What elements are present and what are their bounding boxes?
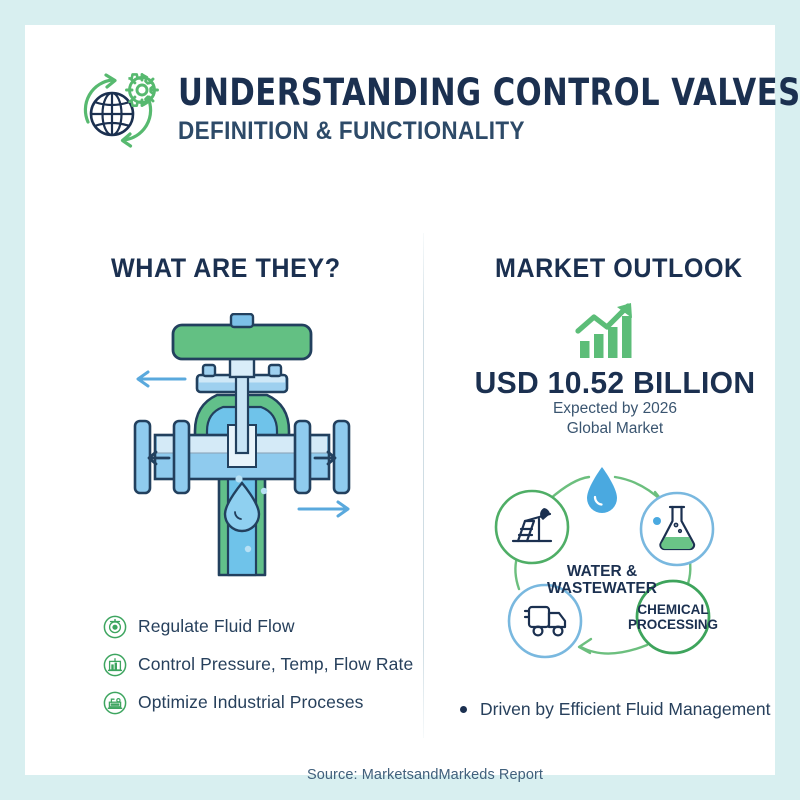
- right-section-heading: MARKET OUTLOOK: [495, 253, 743, 284]
- content-panel: UNDERSTANDING CONTROL VALVES DEFINITION …: [25, 25, 775, 775]
- section-divider: [423, 233, 424, 738]
- valve-gauge-icon: [103, 615, 127, 639]
- arrow-left-top: [138, 372, 185, 386]
- market-subtext-line1: Expected by 2026: [445, 399, 785, 419]
- bubble: [235, 475, 242, 482]
- industry-cycle-diagram: CHEMICAL PROCESSING WATE: [477, 457, 727, 665]
- cycle-center-label-line2: WASTEWATER: [547, 580, 657, 597]
- page-subtitle: DEFINITION & FUNCTIONALITY: [178, 117, 787, 146]
- market-driver-label: Driven by Efficient Fluid Management: [480, 699, 771, 720]
- market-driver-bullet: Driven by Efficient Fluid Management: [460, 699, 771, 720]
- feature-label: Regulate Fluid Flow: [138, 616, 295, 637]
- growth-bar-chart-icon: [574, 301, 640, 363]
- valve-stem-lower: [236, 377, 248, 453]
- page-title: UNDERSTANDING CONTROL VALVES: [178, 74, 800, 113]
- left-section-heading: WHAT ARE THEY?: [111, 253, 341, 284]
- bubble: [261, 488, 267, 494]
- chemical-processing-label-line2: PROCESSING: [628, 617, 718, 632]
- pressure-chart-icon: [103, 653, 127, 677]
- oil-pumpjack-node: [496, 491, 568, 563]
- feature-item: Optimize Industrial Proceses: [103, 684, 413, 721]
- arrow-top-to-right: [615, 477, 662, 501]
- bubble: [245, 546, 251, 552]
- control-valve-illustration: [117, 313, 367, 578]
- chemical-processing-label-line1: CHEMICAL: [637, 602, 708, 617]
- arrow-right-bottom: [299, 502, 348, 516]
- header-text-block: UNDERSTANDING CONTROL VALVES DEFINITION …: [178, 74, 800, 146]
- source-footer: Source: MarketsandMarkeds Report: [50, 767, 800, 783]
- outlet-flange: [295, 421, 310, 493]
- feature-label: Control Pressure, Temp, Flow Rate: [138, 654, 413, 675]
- header: UNDERSTANDING CONTROL VALVES DEFINITION …: [70, 55, 740, 165]
- bonnet-bolt-left: [203, 365, 215, 376]
- outlet-end-flange: [334, 421, 349, 493]
- arrow-bottom-left-to-top-left: [515, 557, 519, 589]
- chemical-flask-node: [641, 493, 713, 565]
- feature-item: Control Pressure, Temp, Flow Rate: [103, 646, 413, 683]
- factory-process-icon: [103, 691, 127, 715]
- inlet-end-flange: [135, 421, 150, 493]
- market-value: USD 10.52 BILLION: [450, 365, 780, 401]
- market-subtext-line2: Global Market: [445, 419, 785, 439]
- feature-list: Regulate Fluid Flow Control Pressure, Te…: [103, 608, 413, 722]
- inlet-flange: [174, 421, 189, 493]
- infographic-root: UNDERSTANDING CONTROL VALVES DEFINITION …: [0, 0, 800, 800]
- globe-gear-refresh-icon: [70, 62, 166, 158]
- market-subtext: Expected by 2026 Global Market: [445, 399, 785, 439]
- feature-item: Regulate Fluid Flow: [103, 608, 413, 645]
- handwheel-nut: [231, 314, 253, 327]
- cycle-center-label-line1: WATER &: [567, 563, 637, 580]
- water-drop-icon: [587, 467, 617, 513]
- bonnet-bolt-right: [269, 365, 281, 376]
- green-handwheel: [173, 325, 311, 359]
- feature-label: Optimize Industrial Proceses: [138, 692, 364, 713]
- arrow-top-left-to-top: [550, 477, 589, 499]
- bullet-dot-icon: [460, 706, 467, 713]
